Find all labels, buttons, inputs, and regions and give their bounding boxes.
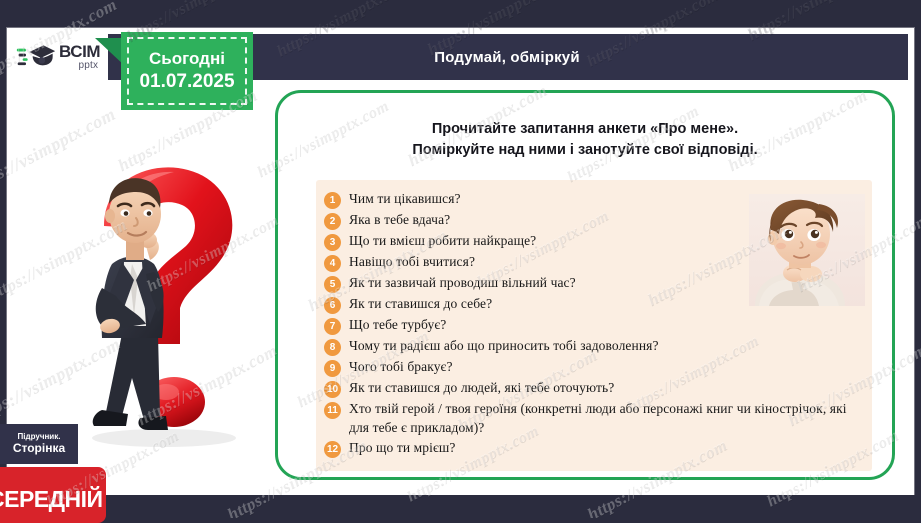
list-item-number: 12 — [324, 441, 341, 458]
list-item: 7 Що тебе турбує? — [324, 315, 862, 335]
list-item-number: 9 — [324, 360, 341, 377]
list-item-text: Як ти зазвичай проводиш вільний час? — [349, 273, 576, 292]
brand-logo: ВСІМ pptx — [12, 33, 108, 81]
thinking-child-illustration — [749, 194, 865, 306]
list-item-text: Що тебе турбує? — [349, 315, 446, 334]
list-item-text: Чого тобі бракує? — [349, 357, 453, 376]
list-item-text: Яка в тебе вдача? — [349, 210, 450, 229]
list-item-number: 6 — [324, 297, 341, 314]
content-heading-line-2: Поміркуйте над ними і занотуйте свої від… — [296, 140, 874, 161]
graduation-cap-icon — [16, 40, 56, 74]
logo-subtext: pptx — [79, 61, 101, 71]
list-item-number: 1 — [324, 192, 341, 209]
bottom-dark-strip — [0, 495, 921, 518]
list-item-number: 7 — [324, 318, 341, 335]
date-tab: Сьогодні 01.07.2025 — [121, 32, 253, 110]
list-item-text: Чим ти цікавишся? — [349, 189, 461, 208]
textbook-page-label: Підручник. Сторінка — [0, 424, 78, 464]
list-item-text: Хто твій герой / твоя героїня (конкретні… — [349, 399, 862, 437]
page-title: Подумай, обміркуй — [434, 49, 580, 66]
red-level-badge: СЕРЕДНІЙ — [0, 467, 106, 523]
textbook-label-line-2: Сторінка — [13, 442, 65, 455]
list-item-number: 4 — [324, 255, 341, 272]
list-item: 8 Чому ти радієш або що приносить тобі з… — [324, 336, 862, 356]
list-item-text: Як ти ставишся до людей, які тебе оточую… — [349, 378, 614, 397]
list-item-number: 2 — [324, 213, 341, 230]
date-tab-label: Сьогодні — [149, 49, 225, 69]
textbook-label-line-1: Підручник. — [18, 433, 61, 442]
list-item: 12 Про що ти мрієш? — [324, 438, 862, 458]
list-item-text: Що ти вмієш робити найкраще? — [349, 231, 536, 250]
content-heading: Прочитайте запитання анкети «Про мене». … — [296, 119, 874, 161]
list-item-text: Чому ти радієш або що приносить тобі зад… — [349, 336, 659, 355]
date-tab-value: 01.07.2025 — [139, 71, 234, 93]
content-heading-line-1: Прочитайте запитання анкети «Про мене». — [296, 119, 874, 140]
list-item-number: 11 — [324, 402, 341, 419]
list-item-text: Про що ти мрієш? — [349, 438, 455, 457]
red-badge-text: СЕРЕДНІЙ — [0, 486, 103, 513]
list-item: 9 Чого тобі бракує? — [324, 357, 862, 377]
list-item-number: 5 — [324, 276, 341, 293]
list-item-number: 3 — [324, 234, 341, 251]
list-item-text: Навіщо тобі вчитися? — [349, 252, 475, 271]
slide: Подумай, обміркуй ВСІМ pptx Сьогодні 01.… — [7, 28, 914, 495]
thinking-businessman-illustration — [62, 148, 292, 463]
list-item: 11 Хто твій герой / твоя героїня (конкре… — [324, 399, 862, 437]
list-item-number: 8 — [324, 339, 341, 356]
logo-wordmark: ВСІМ — [59, 43, 100, 60]
list-item-number: 10 — [324, 381, 341, 398]
list-item-text: Як ти ставишся до себе? — [349, 294, 492, 313]
list-item: 10 Як ти ставишся до людей, які тебе ото… — [324, 378, 862, 398]
